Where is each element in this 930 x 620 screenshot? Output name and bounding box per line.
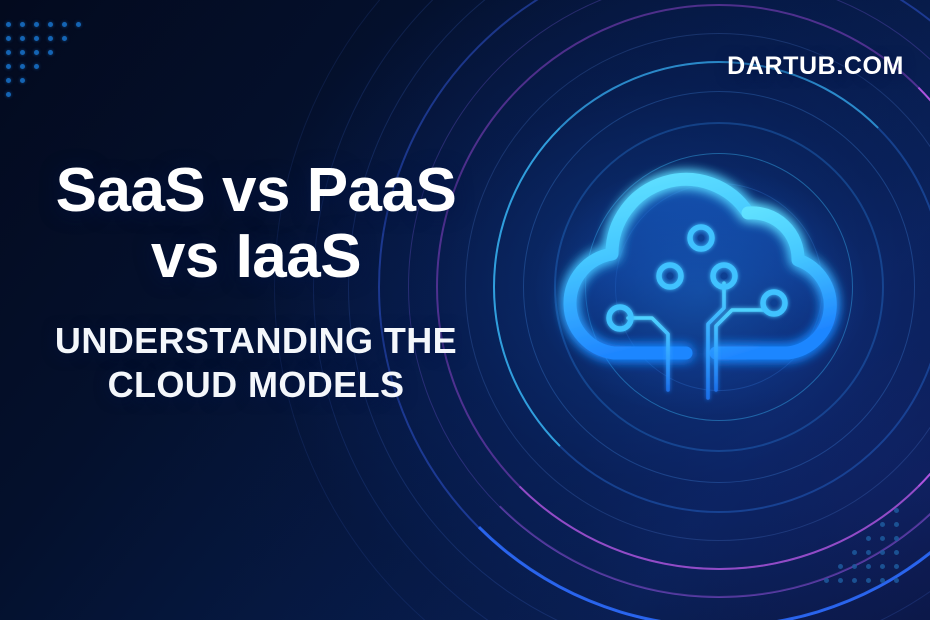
node-far-left-hole bbox=[616, 314, 623, 321]
dot-grid-top-left bbox=[6, 22, 116, 132]
decor-dot bbox=[6, 78, 11, 83]
cloud-circuit-icon bbox=[542, 150, 860, 420]
page-title-line-1: SaaS vs PaaS bbox=[14, 158, 498, 224]
decor-dot bbox=[34, 36, 39, 41]
decor-dot bbox=[880, 564, 885, 569]
node-far-right-hole bbox=[770, 299, 777, 306]
decor-dot bbox=[894, 522, 899, 527]
decor-dot bbox=[48, 36, 53, 41]
decor-dot bbox=[880, 550, 885, 555]
decor-dot bbox=[20, 78, 25, 83]
node-center-top-hole bbox=[697, 234, 704, 241]
decor-dot bbox=[824, 578, 829, 583]
node-right-mid-hole bbox=[720, 272, 727, 279]
decor-dot bbox=[6, 22, 11, 27]
page-subtitle: UNDERSTANDING THE CLOUD MODELS bbox=[0, 319, 512, 407]
decor-dot bbox=[20, 50, 25, 55]
decor-dot bbox=[6, 92, 11, 97]
decor-dot bbox=[838, 564, 843, 569]
decor-dot bbox=[62, 36, 67, 41]
decor-dot bbox=[894, 508, 899, 513]
decor-dot bbox=[852, 564, 857, 569]
node-left-mid-hole bbox=[666, 272, 673, 279]
decor-dot bbox=[20, 36, 25, 41]
decor-dot bbox=[866, 536, 871, 541]
page-subtitle-line-1: UNDERSTANDING THE bbox=[16, 319, 496, 363]
decor-dot bbox=[6, 50, 11, 55]
decor-dot bbox=[34, 22, 39, 27]
decor-dot bbox=[852, 550, 857, 555]
decor-dot bbox=[894, 550, 899, 555]
hero-text-block: SaaS vs PaaS vs IaaS UNDERSTANDING THE C… bbox=[0, 158, 512, 406]
decor-dot bbox=[866, 564, 871, 569]
decor-dot bbox=[34, 64, 39, 69]
cloud-circuit-svg bbox=[542, 150, 860, 420]
decor-dot bbox=[852, 578, 857, 583]
decor-dot bbox=[880, 522, 885, 527]
decor-dot bbox=[866, 550, 871, 555]
dot-grid-bottom-right bbox=[824, 508, 930, 618]
decor-dot bbox=[880, 578, 885, 583]
decor-dot bbox=[894, 536, 899, 541]
decor-dot bbox=[6, 36, 11, 41]
decor-dot bbox=[6, 64, 11, 69]
decor-dot bbox=[48, 50, 53, 55]
page-subtitle-line-2: CLOUD MODELS bbox=[16, 363, 496, 407]
decor-dot bbox=[34, 50, 39, 55]
decor-dot bbox=[48, 22, 53, 27]
decor-dot bbox=[894, 564, 899, 569]
page-title: SaaS vs PaaS vs IaaS bbox=[0, 158, 512, 291]
decor-dot bbox=[62, 22, 67, 27]
page-title-line-2: vs IaaS bbox=[14, 224, 498, 290]
decor-dot bbox=[838, 578, 843, 583]
poster-canvas: DARTUB.COM bbox=[0, 0, 930, 620]
brand-wordmark: DARTUB.COM bbox=[727, 52, 904, 81]
decor-dot bbox=[894, 578, 899, 583]
decor-dot bbox=[20, 64, 25, 69]
circuit-tails bbox=[668, 355, 716, 420]
decor-dot bbox=[866, 578, 871, 583]
decor-dot bbox=[20, 22, 25, 27]
decor-dot bbox=[76, 22, 81, 27]
decor-dot bbox=[880, 536, 885, 541]
